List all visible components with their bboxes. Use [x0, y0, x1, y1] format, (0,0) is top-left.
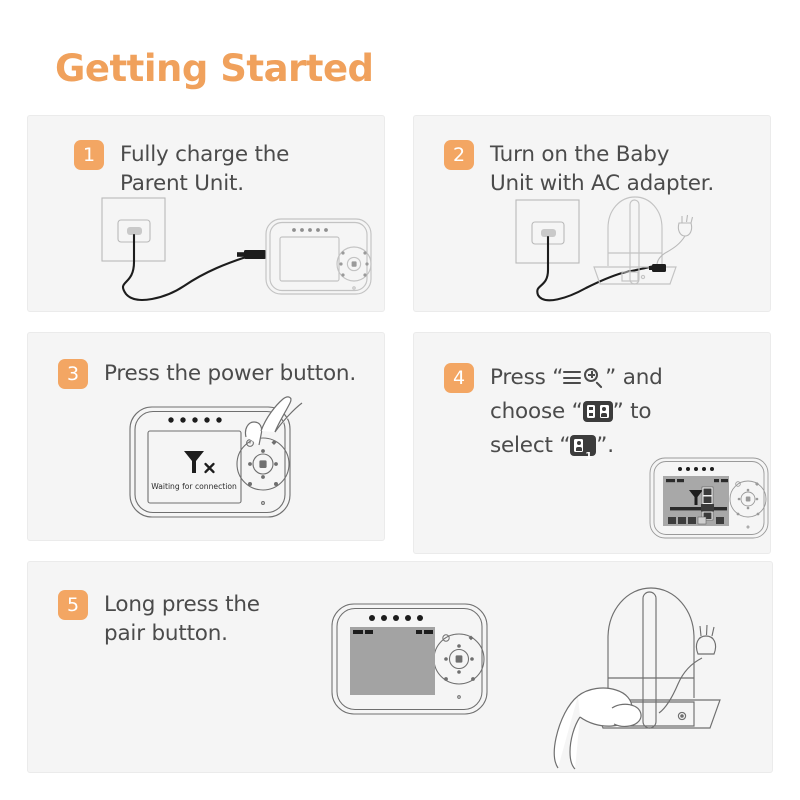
- step-number-badge-5: 5: [58, 590, 88, 620]
- step-text-3-line1: Press the power button.: [104, 359, 385, 388]
- screen-status-text-3: Waiting for connection: [151, 482, 237, 491]
- step4-text-part4: ” to: [613, 399, 652, 424]
- step-text-5-line1: Long press the: [104, 590, 324, 619]
- step-number-badge-1: 1: [74, 140, 104, 170]
- step-text-2-line1: Turn on the Baby: [490, 140, 760, 169]
- step4-text-part5: select “: [490, 433, 570, 458]
- step4-text-part6: ”.: [596, 433, 614, 458]
- illustration-parent-unit-step5: [328, 596, 498, 726]
- illustration-charge-parent-unit: [88, 194, 378, 306]
- illustration-press-power-button: Waiting for connection: [126, 391, 326, 531]
- step-card-3: 3 Press the power button.: [27, 332, 385, 541]
- step-text-1-line1: Fully charge the: [120, 140, 370, 169]
- step-text-5-line2: pair button.: [104, 619, 324, 648]
- step-card-1: 1 Fully charge the Parent Unit.: [27, 115, 385, 312]
- camera-number: 1: [585, 440, 592, 474]
- illustration-baby-unit-ac-adapter: [494, 188, 744, 308]
- illustration-parent-unit-menu: [646, 451, 771, 546]
- step-card-5: 5 Long press the pair button.: [27, 561, 773, 773]
- step-text-4: Press “ ” and choose “ ” to select “: [490, 361, 755, 463]
- step4-text-part1: Press “: [490, 365, 563, 390]
- step-card-2: 2 Turn on the Baby Unit with AC adapter.: [413, 115, 771, 312]
- device-pair-icon: [583, 401, 613, 422]
- camera-1-icon: 1: [570, 435, 596, 456]
- illustration-hand-pressing-pair-button: [548, 580, 748, 770]
- step-number-badge-3: 3: [58, 359, 88, 389]
- step4-text-part2: ” and: [605, 365, 662, 390]
- page-title: Getting Started: [55, 47, 374, 90]
- step-text-1: Fully charge the Parent Unit.: [120, 140, 370, 198]
- menu-icon: [563, 370, 583, 386]
- step4-text-part3: choose “: [490, 399, 583, 424]
- step-number-badge-2: 2: [444, 140, 474, 170]
- step-card-4: 4 Press “ ” and choose “ ” to: [413, 332, 771, 554]
- step-text-4-line2: choose “ ” to: [490, 395, 755, 429]
- zoom-in-icon: [583, 368, 605, 388]
- step-text-3: Press the power button.: [104, 359, 385, 388]
- step-text-4-line1: Press “ ” and: [490, 361, 755, 395]
- step-number-badge-4: 4: [444, 363, 474, 393]
- step-text-5: Long press the pair button.: [104, 590, 324, 648]
- getting-started-page: Getting Started 1 Fully charge the Paren…: [0, 0, 800, 800]
